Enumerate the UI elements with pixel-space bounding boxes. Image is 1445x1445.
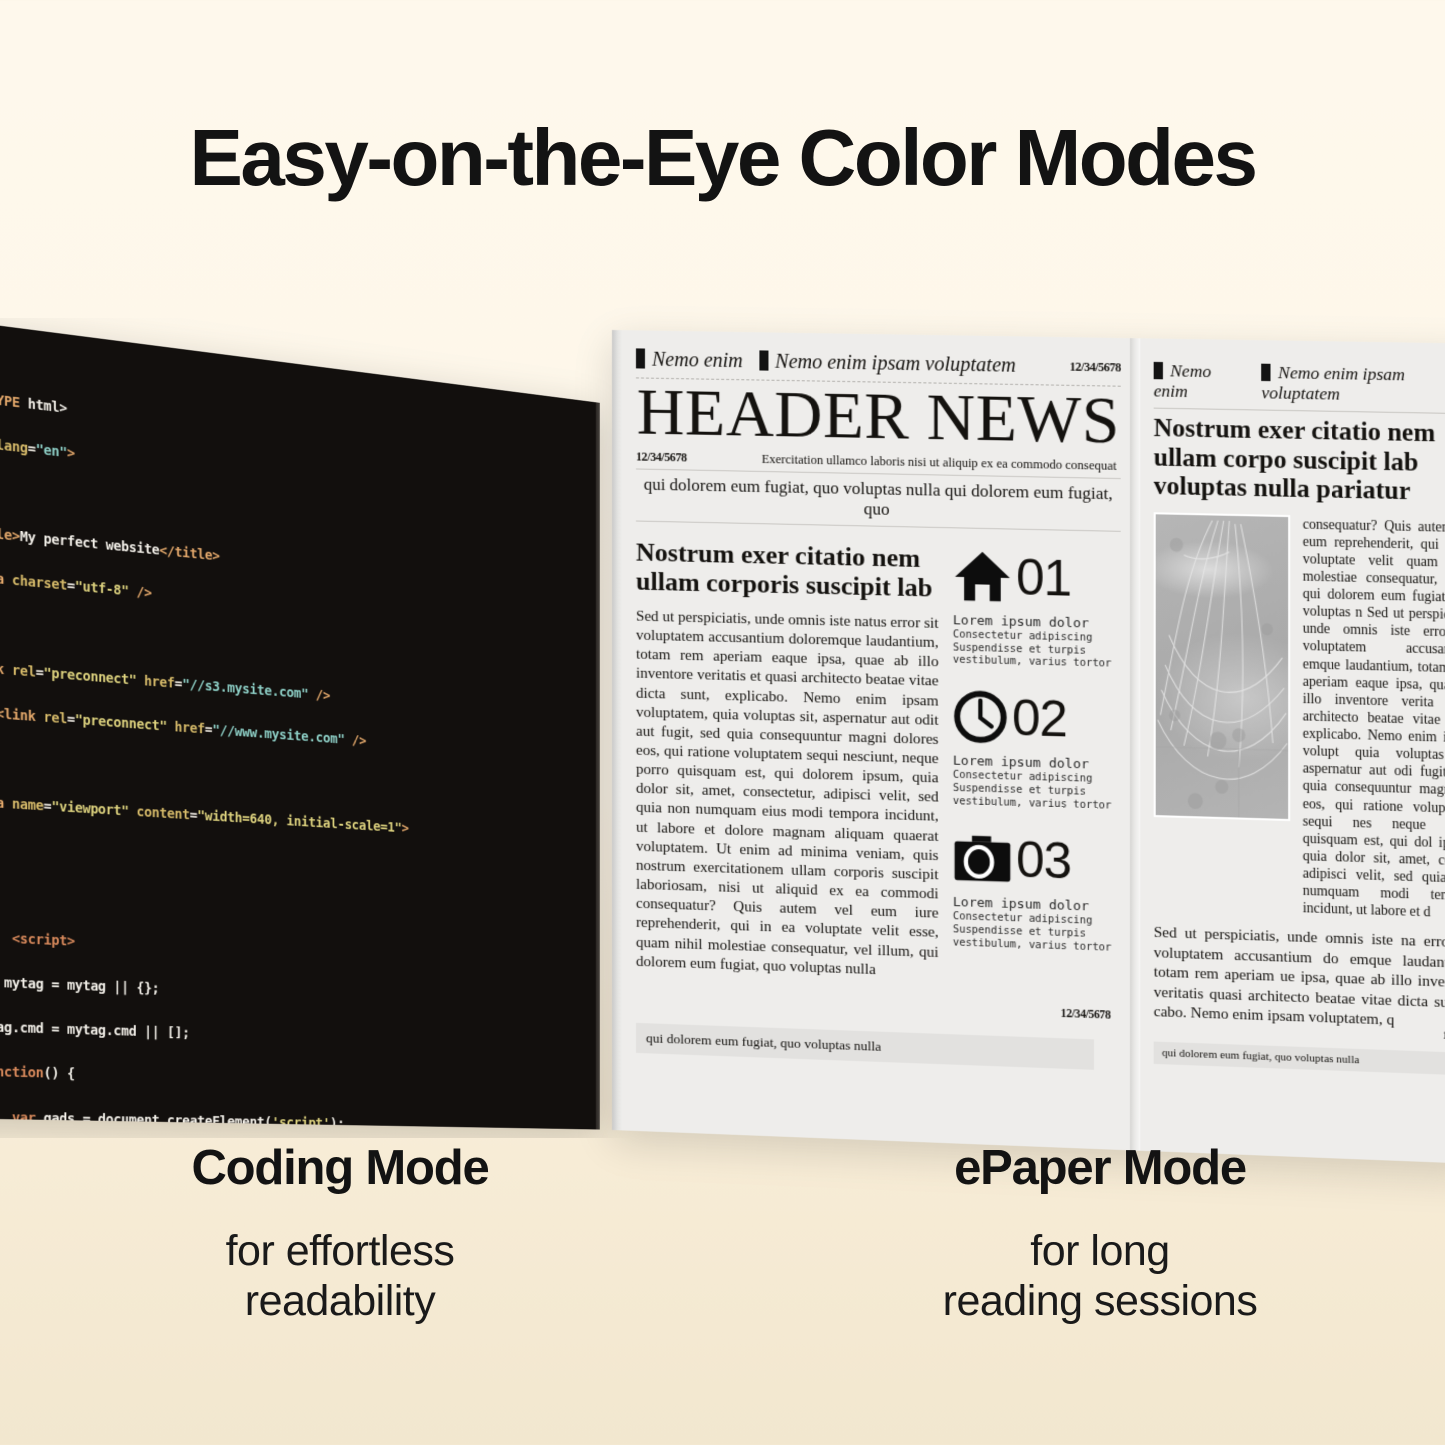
article-headline: Nostrum exer citatio nem ullam corporis …	[636, 537, 939, 602]
page-footer-bar: qui dolorem eum fugiat, quo voluptas nul…	[1154, 1042, 1445, 1076]
feature-item: 02 Lorem ipsum dolor Consectetur adipisc…	[953, 685, 1119, 813]
coding-mode-caption: Coding Mode for effortless readability	[40, 1140, 640, 1327]
feature-caption: Lorem ipsum dolor Consectetur adipiscing…	[953, 613, 1119, 671]
caption-title: ePaper Mode	[800, 1140, 1400, 1196]
article-body: Sed ut perspiciatis, unde omnis iste nat…	[636, 607, 939, 982]
square-bullet-icon	[759, 350, 768, 370]
caption-subtitle: for effortless readability	[40, 1226, 640, 1327]
masthead: Nemo enim Nemo enim ipsam voluptatem	[1154, 361, 1445, 407]
newspaper-title: HEADER NEWS	[636, 380, 1121, 454]
divider-thin	[1154, 408, 1445, 415]
masthead-item-1: Nemo enim	[636, 348, 743, 373]
masthead-item-1: Nemo enim	[1154, 361, 1245, 403]
page-footer-bar: qui dolorem eum fugiat, quo voluptas nul…	[636, 1023, 1094, 1070]
code-screen-bezel	[596, 402, 600, 1129]
clock-icon	[953, 689, 1008, 745]
masthead-item-2: Nemo enim ipsam voluptatem	[1261, 363, 1445, 408]
feature-number: 01	[1016, 552, 1071, 604]
code-line: mytag.cmd = mytag.cmd || [];	[0, 1015, 600, 1057]
feature-header: 01	[953, 544, 1119, 611]
newspaper-page-left: Nemo enim Nemo enim ipsam voluptatem 12/…	[612, 330, 1135, 1151]
masthead-date: 12/34/5678	[1070, 359, 1121, 375]
feature-item: 01 Lorem ipsum dolor Consectetur adipisc…	[953, 544, 1119, 671]
code-line: var gads = document.createElement('scrip…	[0, 1106, 600, 1130]
feature-column: 01 Lorem ipsum dolor Consectetur adipisc…	[953, 544, 1119, 988]
feature-number: 02	[1012, 693, 1067, 745]
page-columns: consequatur? Quis autem vel eum reprehen…	[1154, 512, 1445, 923]
deck-line: qui dolorem eum fugiat, quo voluptas nul…	[636, 468, 1121, 531]
coding-mode-screen: <!DOCTYPE html> <html lang="en"> <head> …	[0, 318, 680, 1138]
feature-caption: Lorem ipsum dolor Consectetur adipiscing…	[953, 895, 1119, 955]
newspaper-surface: Nemo enim Nemo enim ipsam voluptatem 12/…	[612, 330, 1445, 1164]
subtitle-date: 12/34/5678	[636, 449, 687, 465]
code-line: (function() {	[0, 1061, 600, 1098]
feature-caption-body: Consectetur adipiscing Suspendisse et tu…	[953, 910, 1119, 955]
code-listing: <!DOCTYPE html> <html lang="en"> <head> …	[0, 354, 600, 1130]
epaper-mode-caption: ePaper Mode for long reading sessions	[800, 1140, 1400, 1327]
article-column-text: consequatur? Quis autem vel eum reprehen…	[1303, 515, 1445, 923]
square-bullet-icon	[636, 348, 645, 368]
feature-number: 03	[1016, 834, 1071, 886]
main-column: Nostrum exer citatio nem ullam corporis …	[636, 537, 939, 982]
epaper-mode-screen: Nemo enim Nemo enim ipsam voluptatem 12/…	[612, 330, 1445, 1150]
feature-caption-body: Consectetur adipiscing Suspendisse et tu…	[953, 628, 1119, 671]
caption-title: Coding Mode	[40, 1140, 640, 1196]
camera-icon	[953, 833, 1012, 883]
code-line	[0, 880, 600, 934]
masthead-item-2: Nemo enim ipsam voluptatem	[759, 350, 1016, 377]
epaper-bezel	[612, 330, 623, 1130]
code-line: var mytag = mytag || {};	[0, 970, 600, 1016]
article-headline: Nostrum exer citatio nem ullam corpo sus…	[1154, 415, 1445, 508]
feature-header: 02	[953, 685, 1119, 752]
code-line: <script>	[0, 925, 600, 975]
page-columns: Nostrum exer citatio nem ullam corporis …	[636, 537, 1121, 988]
article-lower-text: Sed ut perspiciatis, unde omnis iste na …	[1154, 924, 1445, 1035]
square-bullet-icon	[1261, 364, 1270, 381]
feature-header: 03	[953, 826, 1119, 894]
article-photo	[1154, 512, 1290, 821]
square-bullet-icon	[1154, 362, 1163, 379]
caption-subtitle: for long reading sessions	[800, 1226, 1400, 1327]
page-seam	[1130, 338, 1140, 1151]
masthead: Nemo enim Nemo enim ipsam voluptatem 12/…	[636, 348, 1121, 379]
newspaper-page-right: Nemo enim Nemo enim ipsam voluptatem 12/…	[1135, 338, 1445, 1164]
feature-item: 03 Lorem ipsum dolor Consectetur adipisc…	[953, 826, 1119, 954]
feature-caption-body: Consectetur adipiscing Suspendisse et tu…	[953, 769, 1119, 813]
feature-caption: Lorem ipsum dolor Consectetur adipiscing…	[953, 754, 1119, 813]
photo-streaks	[1156, 514, 1288, 819]
feature-column-date: 12/34/5678	[1061, 1008, 1111, 1022]
code-editor-surface: <!DOCTYPE html> <html lang="en"> <head> …	[0, 318, 600, 1130]
home-icon	[953, 549, 1012, 603]
